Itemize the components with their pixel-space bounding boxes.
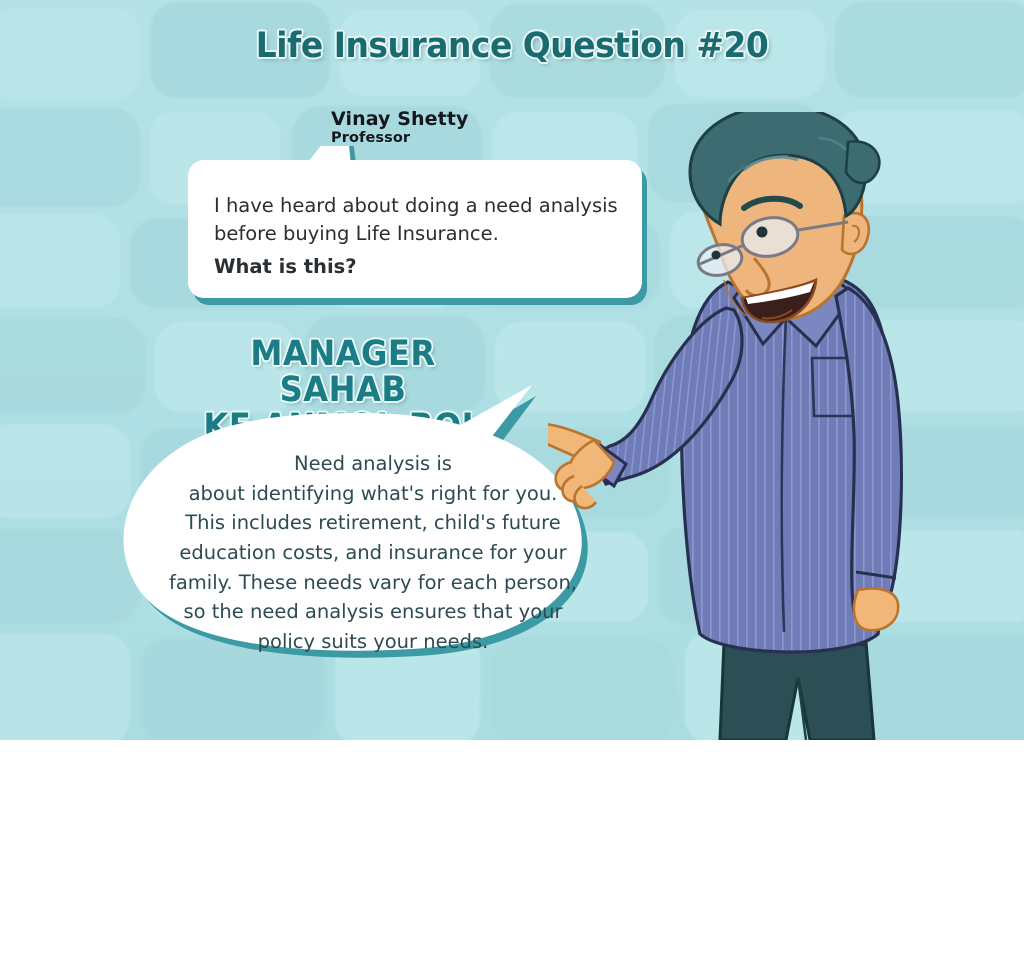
manager-character-illustration — [548, 112, 1018, 740]
speaker-role: Professor — [331, 130, 469, 146]
question-line-2: before buying Life Insurance. — [214, 222, 499, 245]
speaker-label: Vinay Shetty Professor — [331, 109, 469, 147]
footer: Brought to you in public interest by Can… — [0, 740, 1024, 960]
poster: Life Insurance Question #20 Vinay Shetty… — [0, 0, 1024, 960]
illustration-panel: Life Insurance Question #20 Vinay Shetty… — [0, 0, 1024, 740]
speaker-name: Vinay Shetty — [331, 109, 469, 130]
page-title: Life Insurance Question #20 — [31, 26, 994, 66]
answer-text: Need analysis is about identifying what'… — [138, 449, 608, 656]
